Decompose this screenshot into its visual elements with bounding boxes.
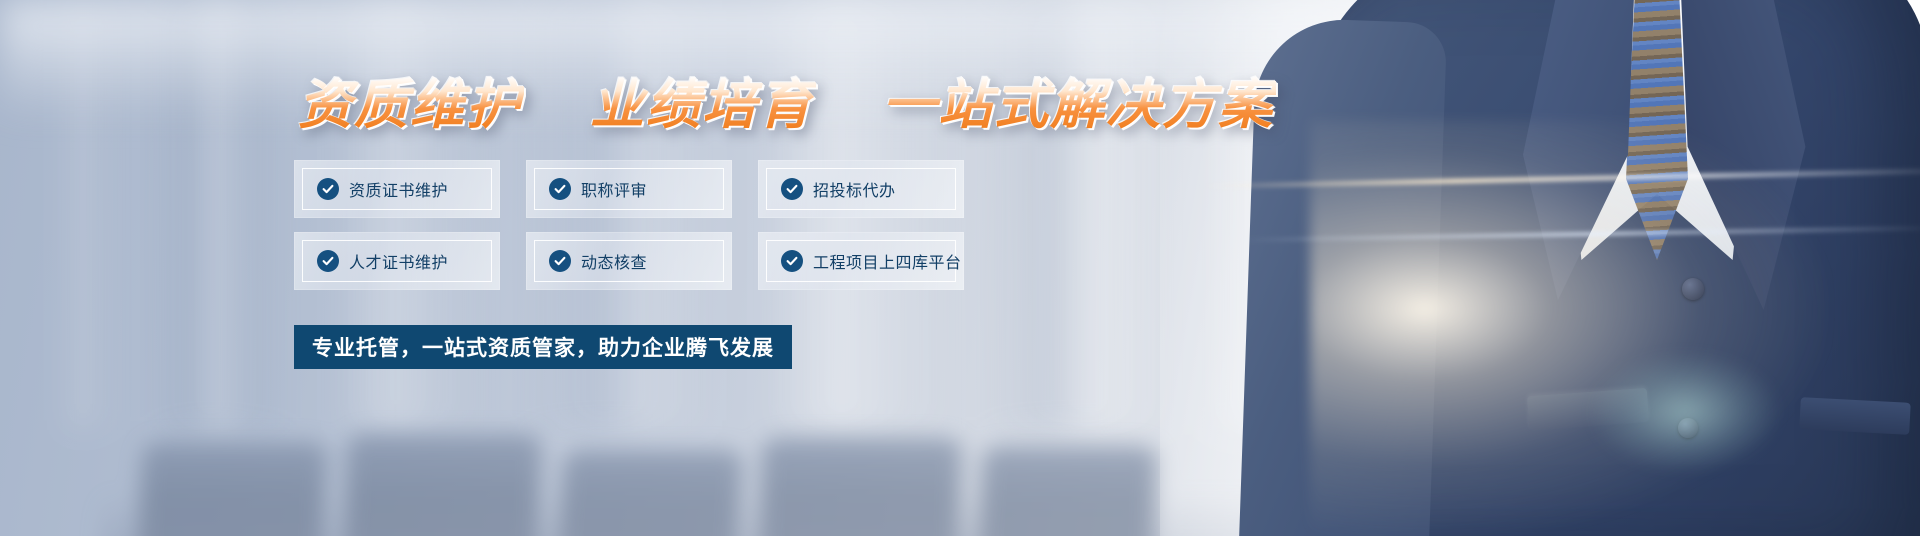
headline: 资质维护 业绩培育 一站式解决方案	[296, 76, 1276, 134]
feature-card-inner: 动态核查	[534, 240, 724, 282]
feature-card-dynamic-inspection[interactable]: 动态核查	[526, 232, 732, 290]
headline-segment-2: 业绩培育	[588, 76, 816, 134]
feature-card-row: 人才证书维护 动态核查	[294, 232, 984, 290]
headline-segment-3: 一站式解决方案	[880, 76, 1276, 134]
feature-card-label: 人才证书维护	[349, 249, 448, 273]
promo-banner: 资质维护 业绩培育 一站式解决方案 资质证书维护	[0, 0, 1920, 536]
check-circle-icon	[317, 178, 339, 200]
feature-card-label: 职称评审	[581, 177, 647, 201]
feature-card-inner: 工程项目上四库平台	[766, 240, 956, 282]
check-circle-icon	[781, 178, 803, 200]
feature-card-title-review[interactable]: 职称评审	[526, 160, 732, 218]
tagline-banner: 专业托管，一站式资质管家，助力企业腾飞发展	[294, 325, 792, 369]
feature-card-label: 招投标代办	[813, 177, 896, 201]
feature-card-label: 资质证书维护	[349, 177, 448, 201]
check-circle-icon	[317, 250, 339, 272]
feature-card-inner: 招投标代办	[766, 168, 956, 210]
check-circle-icon	[781, 250, 803, 272]
feature-card-qualification-certificate[interactable]: 资质证书维护	[294, 160, 500, 218]
feature-card-grid: 资质证书维护 职称评审	[294, 160, 984, 304]
feature-card-bidding-agency[interactable]: 招投标代办	[758, 160, 964, 218]
feature-card-inner: 人才证书维护	[302, 240, 492, 282]
lens-flare-orb	[1590, 352, 1780, 472]
banner-content: 资质维护 业绩培育 一站式解决方案 资质证书维护	[0, 0, 1100, 536]
feature-card-talent-certificate[interactable]: 人才证书维护	[294, 232, 500, 290]
feature-card-label: 工程项目上四库平台	[813, 249, 962, 273]
feature-card-inner: 职称评审	[534, 168, 724, 210]
headline-segment-1: 资质维护	[296, 76, 524, 134]
feature-card-label: 动态核查	[581, 249, 647, 273]
feature-card-four-library-platform[interactable]: 工程项目上四库平台	[758, 232, 964, 290]
check-circle-icon	[549, 250, 571, 272]
feature-card-inner: 资质证书维护	[302, 168, 492, 210]
check-circle-icon	[549, 178, 571, 200]
tagline-text: 专业托管，一站式资质管家，助力企业腾飞发展	[312, 332, 774, 362]
feature-card-row: 资质证书维护 职称评审	[294, 160, 984, 218]
